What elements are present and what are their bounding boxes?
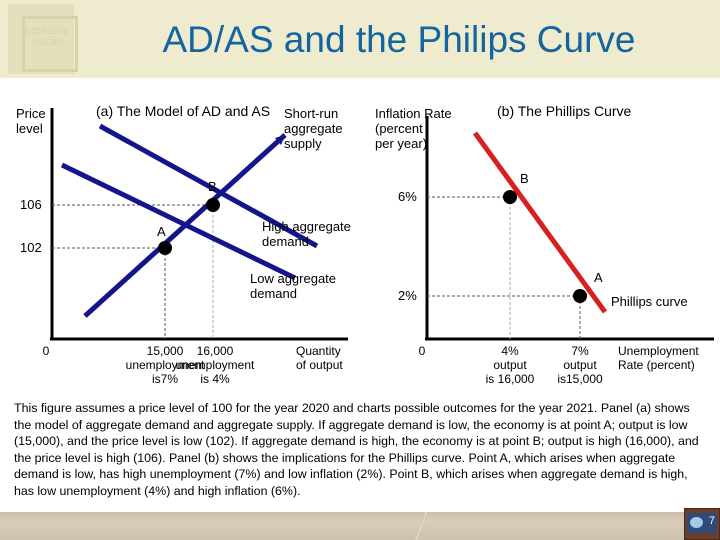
high-ad-label: High aggregate demand bbox=[262, 219, 351, 249]
sras-label-line2: aggregate bbox=[284, 121, 343, 136]
thumbnail-dot-icon bbox=[690, 517, 703, 528]
panel-b-origin-label: 0 bbox=[412, 344, 432, 358]
panel-b-xtick-7pct-line3: is15,000 bbox=[536, 372, 624, 386]
panel-b-x-axis-label-line2: Rate (percent) bbox=[618, 358, 720, 372]
low-ad-label: Low aggregate demand bbox=[250, 271, 336, 301]
panel-a-xtick-16000: 16,000 unemployment is 4% bbox=[155, 344, 275, 386]
panel-b-point-a bbox=[573, 289, 587, 303]
course-logo: ECON1050: MACRO bbox=[8, 4, 74, 74]
panel-a-xtick-16000-line1: 16,000 bbox=[155, 344, 275, 358]
slide-thumbnail: 7 bbox=[684, 508, 720, 540]
high-ad-label-line1: High aggregate bbox=[262, 219, 351, 234]
panel-a-xtick-16000-line2: unemployment bbox=[155, 358, 275, 372]
panel-b-ytick-2pct: 2% bbox=[398, 288, 417, 303]
thumbnail-inner: 7 bbox=[687, 513, 717, 533]
panel-b-y-axis-label-line3: per year) bbox=[375, 136, 452, 151]
panel-a-point-a-label: A bbox=[157, 224, 166, 239]
footer-image-strip bbox=[0, 512, 720, 540]
panel-a-point-a bbox=[158, 241, 172, 255]
panel-b-y-axis-label: Inflation Rate (percent per year) bbox=[375, 106, 452, 151]
panel-a-title: (a) The Model of AD and AS bbox=[96, 103, 270, 119]
panel-a-y-axis-label-line2: level bbox=[16, 121, 46, 136]
panel-a-y-axis-label: Price level bbox=[16, 106, 46, 136]
panel-b-x-axis-label-line1: Unemployment bbox=[618, 344, 720, 358]
phillips-curve-label: Phillips curve bbox=[611, 294, 688, 309]
low-ad-label-line2: demand bbox=[250, 286, 336, 301]
title-band: ECON1050: MACRO AD/AS and the Philips Cu… bbox=[0, 0, 720, 78]
high-ad-label-line2: demand bbox=[262, 234, 351, 249]
figure-container: (a) The Model of AD and AS Price level 1… bbox=[0, 78, 720, 396]
low-ad-label-line1: Low aggregate bbox=[250, 271, 336, 286]
low-ad-curve bbox=[62, 165, 295, 278]
panel-a-xtick-16000-line3: is 4% bbox=[155, 372, 275, 386]
panel-a-point-b-label: B bbox=[208, 179, 217, 194]
panel-a-origin-label: 0 bbox=[36, 344, 56, 358]
sras-label-line1: Short-run bbox=[284, 106, 343, 121]
sras-label: Short-run aggregate supply bbox=[284, 106, 343, 151]
panel-b-xtick-7pct-line1: 7% bbox=[536, 344, 624, 358]
panel-a-ytick-106: 106 bbox=[20, 197, 42, 212]
panel-a-x-axis-label-line2: of output bbox=[296, 358, 366, 372]
panel-a-ytick-102: 102 bbox=[20, 240, 42, 255]
page-title: AD/AS and the Philips Curve bbox=[84, 12, 714, 68]
logo-line-2: MACRO bbox=[18, 37, 78, 48]
panel-b-y-axis-label-line1: Inflation Rate bbox=[375, 106, 452, 121]
panel-b-ytick-6pct: 6% bbox=[398, 189, 417, 204]
phillips-curve bbox=[475, 133, 605, 312]
panel-a-point-b bbox=[206, 198, 220, 212]
panel-b-xtick-7pct: 7% output is15,000 bbox=[536, 344, 624, 386]
slide-number: 7 bbox=[709, 515, 715, 527]
panel-a-x-axis-label-line1: Quantity bbox=[296, 344, 366, 358]
panel-a-y-axis-label-line1: Price bbox=[16, 106, 46, 121]
panel-a-x-axis-label: Quantity of output bbox=[296, 344, 366, 372]
logo-line-1: ECON1050: bbox=[18, 26, 78, 37]
logo-text: ECON1050: MACRO bbox=[18, 26, 78, 48]
panel-b-x-axis-label: Unemployment Rate (percent) bbox=[618, 344, 720, 372]
sras-label-line3: supply bbox=[284, 136, 343, 151]
panel-b-y-axis-label-line2: (percent bbox=[375, 121, 452, 136]
panel-b-point-a-label: A bbox=[594, 270, 603, 285]
panel-b-point-b bbox=[503, 190, 517, 204]
figure-caption: This figure assumes a price level of 100… bbox=[14, 400, 708, 500]
panel-b-title: (b) The Phillips Curve bbox=[497, 103, 631, 119]
panel-b-point-b-label: B bbox=[520, 171, 529, 186]
panel-b-xtick-7pct-line2: output bbox=[536, 358, 624, 372]
